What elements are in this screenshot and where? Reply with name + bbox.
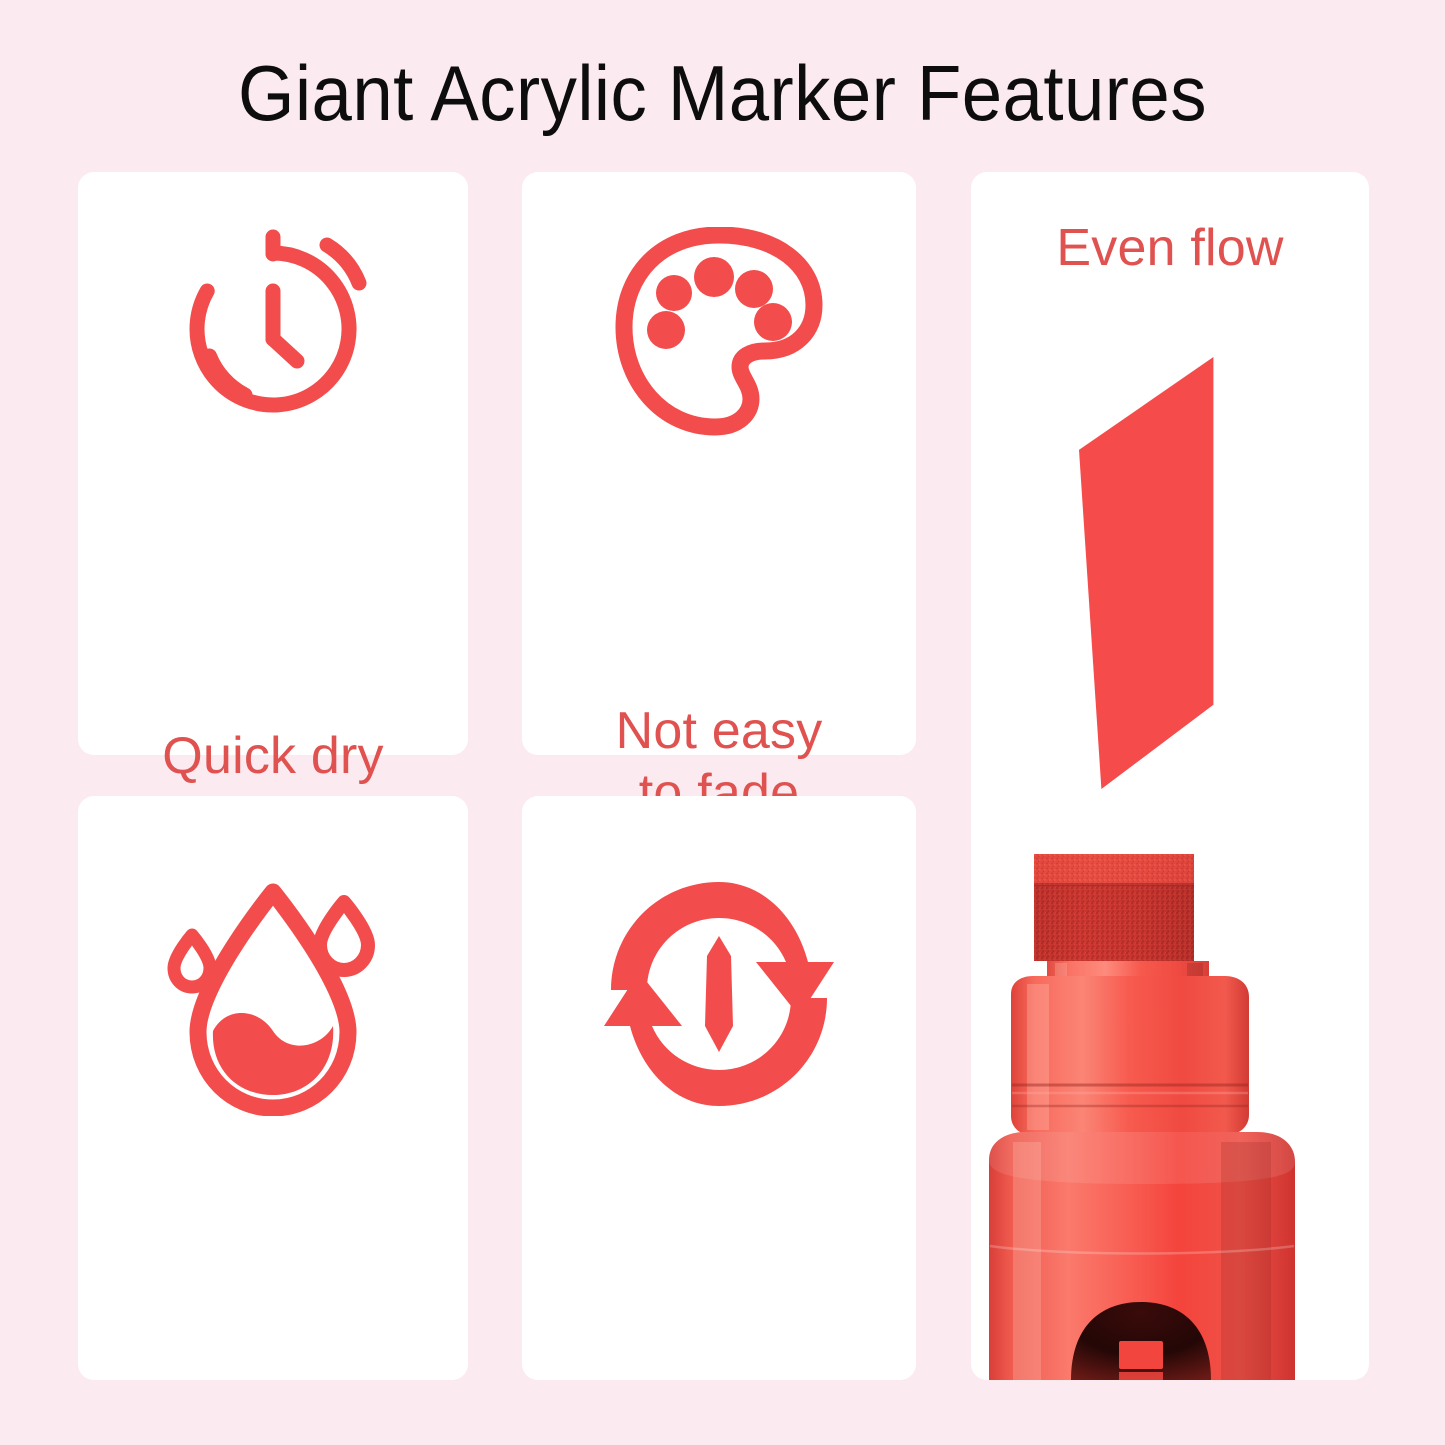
water-droplet-icon: [166, 876, 380, 1116]
marker-stroke-swatch: [1079, 357, 1239, 789]
reverse-arrows-icon: [600, 874, 838, 1114]
paint-palette-icon: [610, 227, 828, 437]
feature-card-even-flow: Even flow: [971, 172, 1369, 1380]
stopwatch-icon: [173, 227, 373, 427]
feature-label-even-flow: Even flow: [971, 217, 1369, 279]
feature-label-quick-dry: Quick dry: [78, 725, 468, 787]
page-title: Giant Acrylic Marker Features: [51, 47, 1395, 139]
feature-card-waterproof: Waterproof: [78, 796, 468, 1380]
red-acrylic-marker-pen: [971, 842, 1369, 1380]
feature-card-reversible-tip: Reversible tip: [522, 796, 916, 1380]
feature-card-not-easy-to-fade: Not easy to fade: [522, 172, 916, 755]
feature-card-quick-dry: Quick dry: [78, 172, 468, 755]
